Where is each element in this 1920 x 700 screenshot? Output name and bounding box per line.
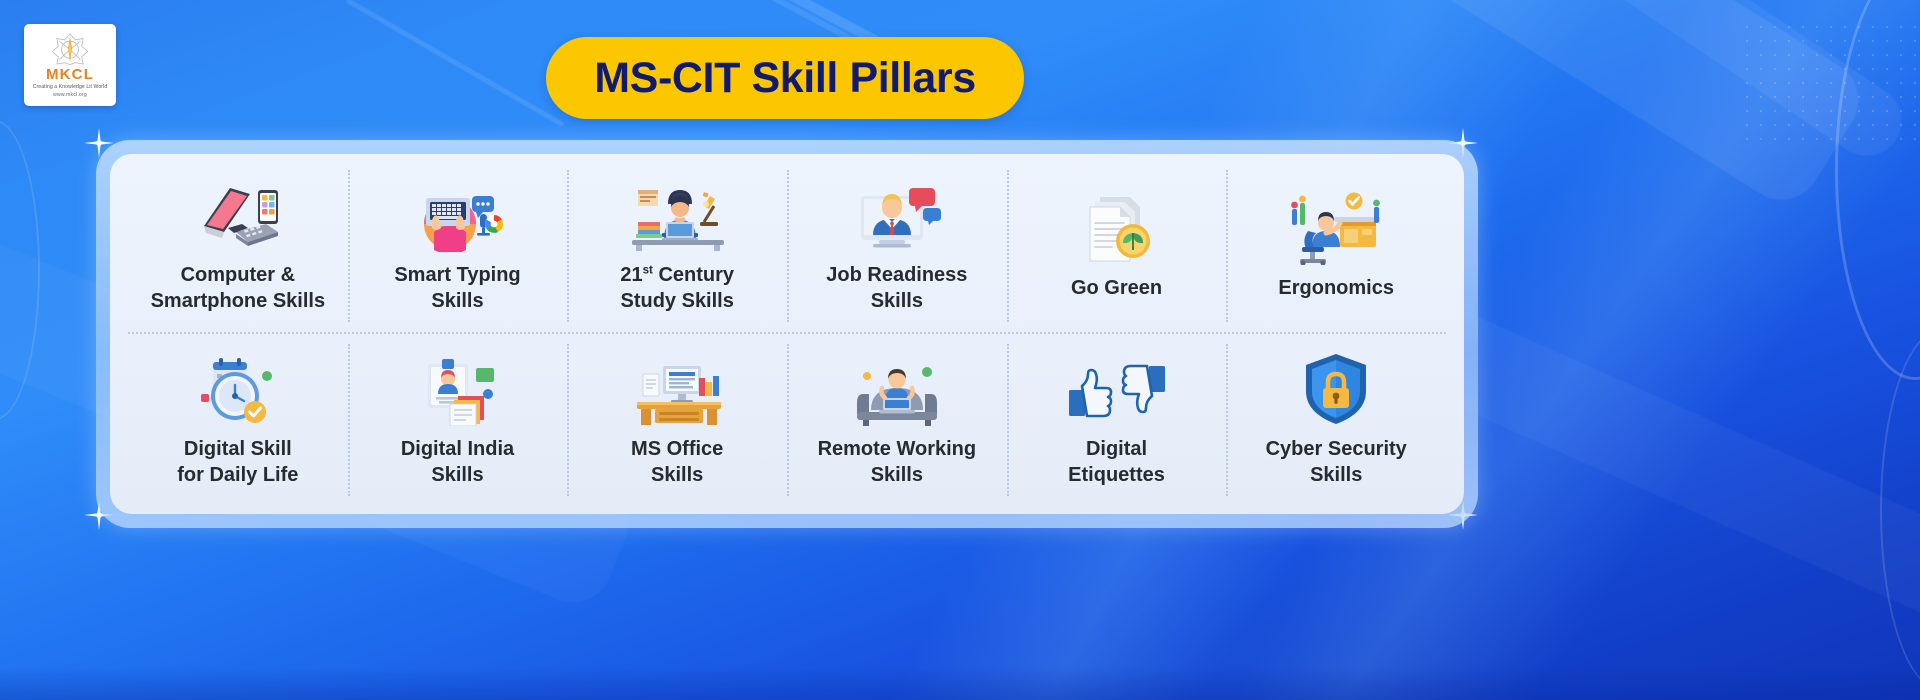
background-arc	[1880, 330, 1920, 690]
skill-label: Remote Working Skills	[818, 436, 977, 489]
skill-cell-ms-office[interactable]: MS Office Skills	[567, 334, 787, 506]
hands-typing-keyboard-icon	[354, 174, 562, 252]
skill-label: Cyber Security Skills	[1266, 436, 1407, 489]
skill-row-2: Digital Skill for Daily Life	[128, 334, 1446, 506]
skill-cell-remote-working[interactable]: Remote Working Skills	[787, 334, 1007, 506]
skill-label: Go Green	[1071, 275, 1162, 301]
skill-row-1: Computer & Smartphone Skills	[128, 160, 1446, 334]
background-arc	[1835, 0, 1920, 380]
mkcl-star-flame-logo-icon	[50, 32, 90, 66]
paper-documents-with-leaf-icon	[1013, 187, 1221, 265]
professional-with-chat-bubbles-icon	[793, 174, 1001, 252]
id-card-documents-icon	[354, 348, 562, 426]
skill-label: Job Readiness Skills	[826, 262, 967, 315]
page-title-banner: MS-CIT Skill Pillars	[546, 37, 1024, 119]
skill-label: Digital India Skills	[401, 436, 514, 489]
mkcl-tagline: Creating a Knowledge Lit World	[33, 84, 108, 90]
skill-cell-ergonomics[interactable]: Ergonomics	[1226, 160, 1446, 332]
mkcl-logo: MKCL Creating a Knowledge Lit World www.…	[24, 24, 116, 106]
background-streak	[1445, 0, 1915, 169]
clock-calendar-daily-life-icon	[134, 348, 342, 426]
thumbs-up-thumbs-down-icon	[1013, 348, 1221, 426]
background-dot-grid	[1740, 20, 1920, 140]
page-title: MS-CIT Skill Pillars	[594, 54, 976, 103]
skill-label: Ergonomics	[1278, 275, 1394, 301]
skill-label: 21st Century Study Skills	[620, 262, 734, 315]
skill-cell-digital-india[interactable]: Digital India Skills	[348, 334, 568, 506]
mkcl-url: www.mkcl.org	[53, 92, 87, 98]
desktop-computer-and-smartphone-icon	[134, 174, 342, 252]
background-bottom-band	[0, 666, 1920, 700]
skill-label: Smart Typing Skills	[394, 262, 520, 315]
background-arc	[0, 120, 40, 420]
skill-label: Computer & Smartphone Skills	[151, 262, 326, 315]
mkcl-wordmark: MKCL	[46, 67, 94, 82]
person-at-ergonomic-desk-icon	[1232, 187, 1440, 265]
skill-label: Digital Etiquettes	[1068, 436, 1165, 489]
skill-pillars-panel: Computer & Smartphone Skills	[96, 140, 1478, 528]
office-desk-monitor-books-icon	[573, 348, 781, 426]
skill-label: MS Office Skills	[631, 436, 723, 489]
shield-with-padlock-icon	[1232, 348, 1440, 426]
skill-cell-smart-typing[interactable]: Smart Typing Skills	[348, 160, 568, 332]
skill-cell-cyber-security[interactable]: Cyber Security Skills	[1226, 334, 1446, 506]
skill-cell-digital-skill-daily-life[interactable]: Digital Skill for Daily Life	[128, 334, 348, 506]
skill-cell-21st-century-study[interactable]: 21st Century Study Skills	[567, 160, 787, 332]
skill-cell-digital-etiquettes[interactable]: Digital Etiquettes	[1007, 334, 1227, 506]
skill-cell-go-green[interactable]: Go Green	[1007, 160, 1227, 332]
skill-label: Digital Skill for Daily Life	[177, 436, 298, 489]
background-streak	[345, 0, 564, 127]
person-on-sofa-with-laptop-icon	[793, 348, 1001, 426]
skill-cell-computer-smartphone[interactable]: Computer & Smartphone Skills	[128, 160, 348, 332]
student-studying-at-desk-icon	[573, 174, 781, 252]
skill-cell-job-readiness[interactable]: Job Readiness Skills	[787, 160, 1007, 332]
